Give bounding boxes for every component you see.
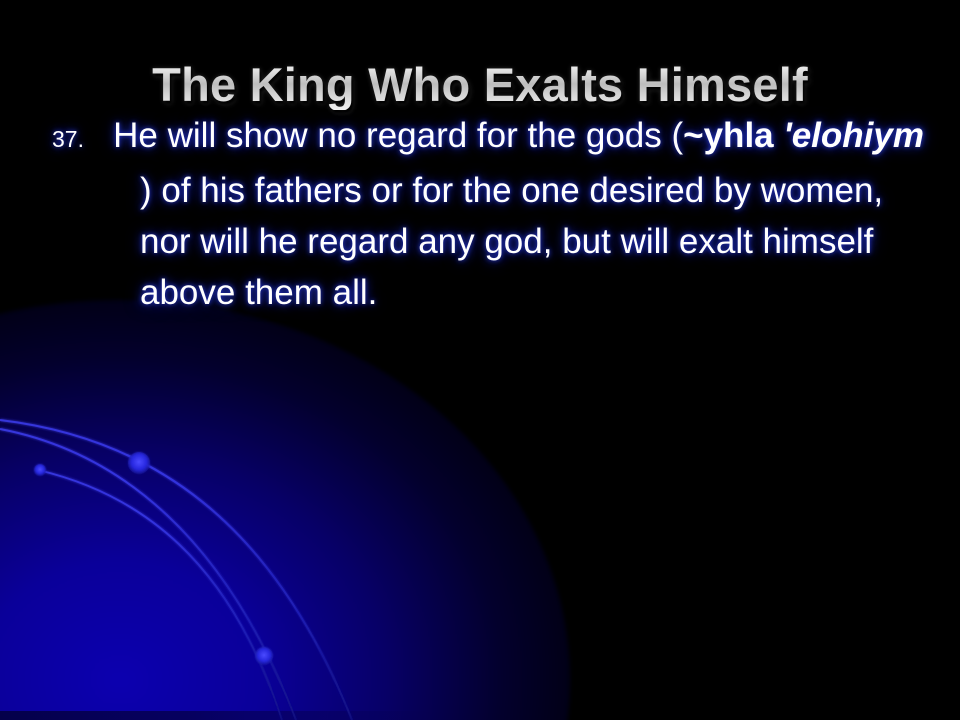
arc-dot-small: [34, 464, 46, 476]
verse-number: 37.: [52, 126, 84, 152]
slide-title: The King Who Exalts Himself: [0, 60, 960, 109]
arc-inner: [38, 470, 282, 720]
verse-paragraph: 37. He will show no regard for the gods …: [52, 110, 932, 318]
translit-separator-space: [774, 116, 784, 155]
slide-body: 37. He will show no regard for the gods …: [52, 110, 932, 318]
arc-outer: [0, 420, 352, 720]
verse-text-lead-in: He will show no regard for the gods (: [84, 116, 683, 155]
bottom-edge-band: [0, 711, 430, 720]
hebrew-transliteration: ~yhla: [683, 116, 773, 155]
arc-dot-medium: [255, 647, 273, 665]
presentation-slide: The King Who Exalts Himself 37. He will …: [0, 0, 960, 720]
arc-middle: [0, 429, 296, 720]
roman-transliteration: 'elohiym: [783, 116, 924, 155]
corner-glow: [0, 300, 570, 720]
arc-dot-large: [128, 452, 150, 474]
